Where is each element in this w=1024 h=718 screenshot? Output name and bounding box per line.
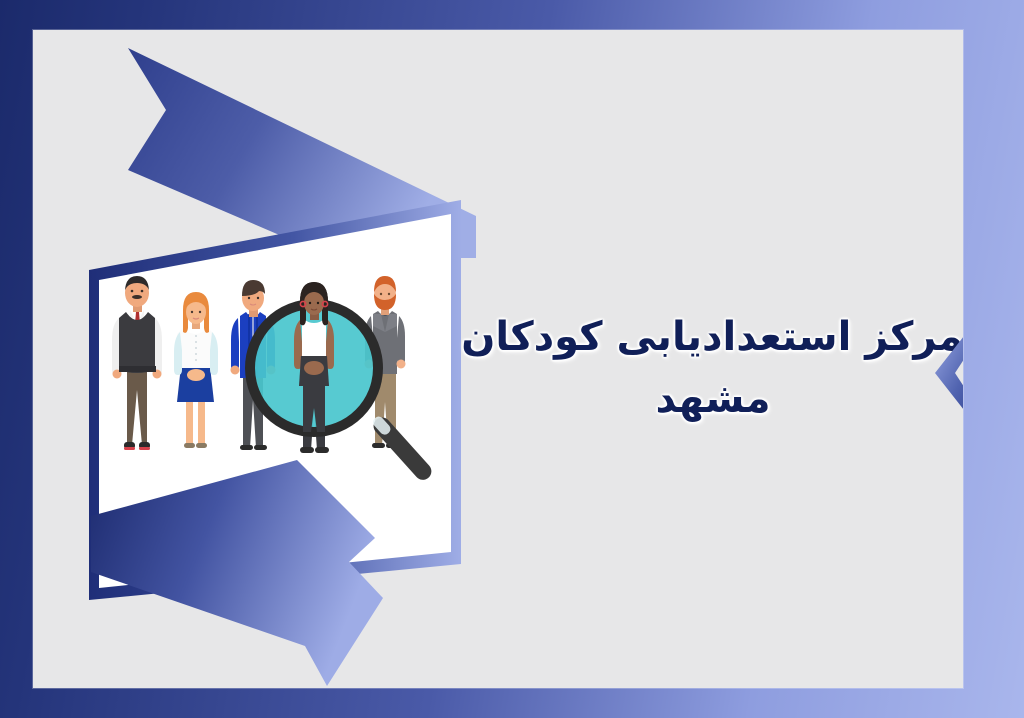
slide-root: مرکز استعدادیابی کودکان مشهد [0,0,1024,718]
person-man-mustache-vest [112,276,162,450]
ribbon-chevron-bottom-icon [91,450,441,688]
slide-canvas: مرکز استعدادیابی کودکان مشهد [33,30,963,688]
mini-chevron-left-icon [933,325,963,421]
magnifier-lens-icon [250,282,378,432]
page-title-line-2: مشهد [463,368,963,430]
person-woman-blonde-blouse-skirt [174,292,218,448]
title-block: مرکز استعدادیابی کودکان مشهد [463,306,963,430]
page-title-line-1: مرکز استعدادیابی کودکان [463,306,963,368]
